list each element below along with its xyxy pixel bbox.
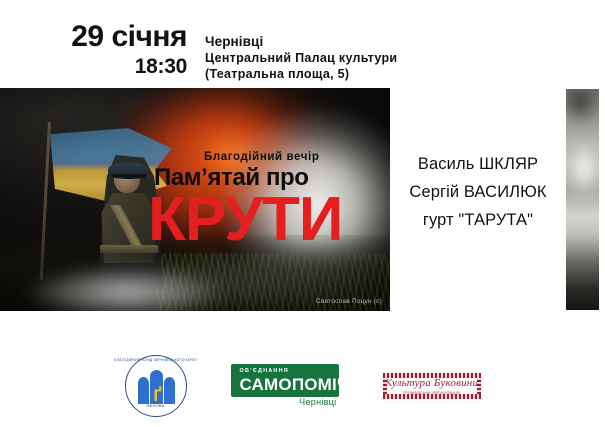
performer-name: гурт "ТАРУТА": [423, 206, 533, 234]
side-image-strip: [566, 89, 599, 310]
event-date: 29 січня: [22, 21, 187, 53]
soldier-cap-brim: [112, 174, 146, 179]
logo-kultura-bukovyny: Культура Буковини ГРОМАДСЬКА ОРГАНІЗАЦІЯ: [383, 368, 481, 404]
venue-name: Центральний Палац культури: [205, 50, 397, 66]
title-line-2: КРУТИ: [148, 190, 392, 250]
performers-panel: Василь ШКЛЯР Сергій ВАСИЛЮК гурт "ТАРУТА…: [390, 88, 566, 311]
samopomich-city: Чернівці: [299, 397, 336, 408]
logo-church-emblem: БЛАГОДІЙНИЙ ФОНД ЧЕРНІВЕЦЬКОЇ ЄПАРХІЇ Ґ …: [125, 355, 187, 417]
samopomich-wordmark: САМОПОМІЧ: [240, 375, 332, 395]
embroidery-border-right-icon: [477, 378, 481, 394]
event-time: 18:30: [22, 55, 187, 79]
title-kicker: Благодійний вечір: [204, 150, 392, 164]
sponsor-logos: БЛАГОДІЙНИЙ ФОНД ЧЕРНІВЕЦЬКОЇ ЄПАРХІЇ Ґ …: [0, 355, 605, 417]
event-poster: 29 січня 18:30 Чернівці Центральний Пала…: [0, 0, 605, 427]
embroidery-border-left-icon: [383, 378, 387, 394]
logo-samopomich: ОБ’ЄДНАННЯ САМОПОМІЧ Чернівці: [231, 364, 339, 408]
kultura-subtitle: ГРОМАДСЬКА ОРГАНІЗАЦІЯ: [403, 390, 460, 396]
strip-dark-cloud: [566, 89, 599, 129]
performer-name: Сергій ВАСИЛЮК: [409, 178, 546, 206]
samopomich-box: ОБ’ЄДНАННЯ САМОПОМІЧ: [231, 364, 339, 397]
kultura-title: Культура Буковини: [385, 377, 478, 390]
poster-header: 29 січня 18:30 Чернівці Центральний Пала…: [0, 0, 605, 88]
photo-credit: Святослав Поцун (с): [316, 298, 382, 305]
church-domes-icon: Ґ: [138, 372, 174, 404]
venue-address: (Театральна площа, 5): [205, 66, 397, 82]
date-block: 29 січня 18:30: [22, 21, 187, 79]
samopomich-small-text: ОБ’ЄДНАННЯ: [240, 368, 332, 375]
performer-name: Василь ШКЛЯР: [418, 150, 538, 178]
emblem-arc-text: БЛАГОДІЙНИЙ ФОНД ЧЕРНІВЕЦЬКОЇ ЄПАРХІЇ: [114, 358, 196, 362]
venue-block: Чернівці Центральний Палац культури (Теа…: [205, 33, 397, 82]
dome-left-icon: [138, 386, 149, 404]
artwork-mist: [8, 253, 242, 311]
poster-footer: БЛАГОДІЙНИЙ ФОНД ЧЕРНІВЕЦЬКОЇ ЄПАРХІЇ Ґ …: [0, 311, 605, 427]
emblem-base-text: ОБНОВА: [146, 403, 165, 408]
strip-light-cloud: [566, 124, 599, 212]
poster-title: Благодійний вечір Пам’ятай про КРУТИ: [150, 150, 392, 250]
venue-city: Чернівці: [205, 33, 397, 50]
dome-right-icon: [164, 386, 175, 404]
